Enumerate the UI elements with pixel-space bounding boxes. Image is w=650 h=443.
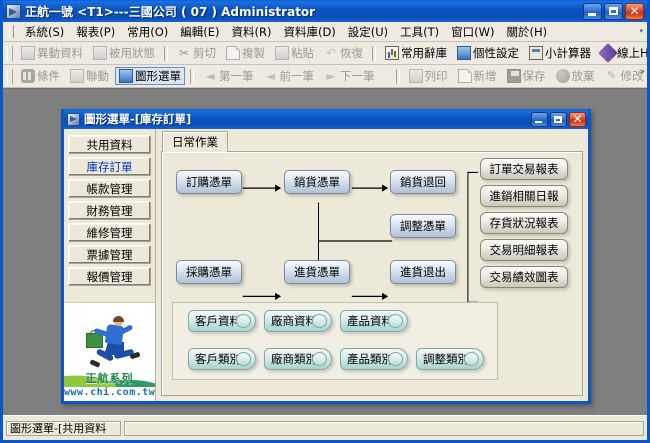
- new-icon: [458, 69, 472, 83]
- master-data-customer[interactable]: 客戶資料: [188, 310, 256, 332]
- link-icon: [70, 69, 84, 83]
- toolbar-button-label: 剪切: [193, 47, 216, 60]
- toolbar-button-graphic-menu[interactable]: 圖形選單: [115, 67, 185, 85]
- toolbar-button-label: 異動資料: [37, 47, 83, 60]
- toolbar-button-label: 下一筆: [340, 70, 375, 83]
- first-record-icon: ◄: [203, 69, 217, 83]
- save-icon: [507, 69, 521, 83]
- chevron-down-icon[interactable]: ▾: [639, 27, 643, 35]
- flow-node-sales-voucher[interactable]: 銷貨憑單: [284, 170, 350, 194]
- toolbar-button-phrase-library[interactable]: 常用辭庫: [381, 44, 451, 62]
- master-data-customer-category[interactable]: 客戶類別: [188, 348, 256, 370]
- menu-item-about[interactable]: 關於(H): [501, 22, 554, 42]
- title-bar: 正航一號 <T1>---三國公司 ( 07 ) Administrator ✕: [3, 0, 647, 22]
- toolbar-button-label: 恢復: [340, 47, 363, 60]
- menu-item-database[interactable]: 資料庫(D): [277, 22, 341, 42]
- status-text: 圖形選單-[共用資料: [6, 421, 121, 436]
- toolbar-button-calculator[interactable]: 小計算器: [525, 44, 595, 62]
- page-title: 正航一號 <T1>---三國公司 ( 07 ) Administrator: [25, 3, 583, 20]
- toolbar-button-label: 小計算器: [545, 47, 591, 60]
- mdi-maximize-button[interactable]: [550, 112, 567, 127]
- toolbar-button-label: 條件: [37, 70, 60, 83]
- flow-node-receipt-voucher[interactable]: 進貨憑單: [284, 260, 350, 284]
- toolbar-button-label: 列印: [425, 70, 448, 83]
- toolbar-separator: [372, 46, 376, 61]
- toolbar-button-label: 個性設定: [473, 47, 519, 60]
- mdi-minimize-button[interactable]: [531, 112, 548, 127]
- toolbar-button-save[interactable]: 保存: [503, 67, 550, 85]
- toolbar-button-usage-state[interactable]: 被用狀態: [89, 44, 159, 62]
- toolbar-button-label: 線上Help: [617, 47, 647, 60]
- mdi-window-title: 圖形選單-[庫存訂單]: [84, 111, 531, 127]
- menu-item-system[interactable]: 系統(S): [19, 22, 70, 42]
- application-window: 正航一號 <T1>---三國公司 ( 07 ) Administrator ✕ …: [0, 0, 650, 443]
- next-record-icon: ►: [324, 69, 338, 83]
- report-button-transaction-detail[interactable]: 交易明細報表: [480, 239, 568, 261]
- sidebar-item-bill-mgmt[interactable]: 票據管理: [68, 245, 151, 264]
- report-button-performance-chart[interactable]: 交易績效圖表: [480, 266, 568, 288]
- toolbar-button-discard[interactable]: 放棄: [552, 67, 599, 85]
- toolbar-button-paste[interactable]: 粘貼: [271, 44, 318, 62]
- status-secondary: [124, 421, 644, 436]
- window-controls: ✕: [583, 3, 645, 20]
- toolbar-secondary: 條件 聯動 圖形選單 ◄ 第一筆 ◄ 前一筆 ► 下一筆 » 列印: [3, 65, 647, 88]
- mdi-workspace: 圖形選單-[庫存訂單] ✕ 共用資料 庫存訂單 帳款管理 財務管理 維修管理 票…: [3, 88, 647, 415]
- toolbar-button-label: 複製: [242, 47, 265, 60]
- app-icon: [6, 4, 21, 19]
- toolbar-separator: [164, 46, 168, 61]
- toolbar-button-first-record[interactable]: ◄ 第一筆: [199, 67, 258, 85]
- edit-icon: ✎: [605, 69, 619, 83]
- toolbar-button-prev-record[interactable]: ◄ 前一筆: [260, 67, 319, 85]
- module-content: 日常作業: [156, 129, 588, 401]
- cut-icon: ✂: [177, 46, 191, 60]
- close-button[interactable]: ✕: [625, 3, 644, 20]
- menu-grip[interactable]: [9, 25, 14, 38]
- flow-node-purchase-return[interactable]: 進貨退出: [390, 260, 456, 284]
- menu-item-settings[interactable]: 設定(U): [342, 22, 394, 42]
- toolbar-button-online-help[interactable]: 線上Help: [597, 44, 647, 62]
- menu-item-common[interactable]: 常用(O): [121, 22, 174, 42]
- toolbar-button-print[interactable]: 列印: [405, 67, 452, 85]
- menu-bar: 系統(S) 報表(P) 常用(O) 編輯(E) 資料(R) 資料庫(D) 設定(…: [3, 22, 647, 42]
- flow-node-sales-return[interactable]: 銷貨退回: [390, 170, 456, 194]
- mdi-app-icon: [67, 113, 80, 126]
- logo-brand-text: 正航系列: [64, 370, 155, 386]
- master-data-vendor[interactable]: 廠商資料: [264, 310, 332, 332]
- menu-item-data[interactable]: 資料(R): [225, 22, 277, 42]
- master-data-adjustment-category[interactable]: 調整類別: [416, 348, 484, 370]
- sidebar-item-finance-mgmt[interactable]: 財務管理: [68, 201, 151, 220]
- tab-daily-operations[interactable]: 日常作業: [162, 131, 228, 152]
- brand-logo: 正航系列 www.chi.com.tw: [64, 302, 155, 401]
- toolbar-button-label: 聯動: [86, 70, 109, 83]
- sidebar-item-common-data[interactable]: 共用資料: [68, 135, 151, 154]
- tab-strip: 日常作業: [156, 129, 588, 151]
- toolbar-button-label: 放棄: [572, 70, 595, 83]
- flow-node-purchase-order[interactable]: 訂購憑單: [176, 170, 242, 194]
- sidebar-item-inventory-order[interactable]: 庫存訂單: [68, 157, 151, 176]
- toolbar-button-personal-settings[interactable]: 個性設定: [453, 44, 523, 62]
- master-data-product-category[interactable]: 產品類別: [340, 348, 408, 370]
- mdi-title-bar: 圖形選單-[庫存訂單] ✕: [64, 109, 588, 129]
- module-sidebar: 共用資料 庫存訂單 帳款管理 財務管理 維修管理 票據管理 報價管理: [64, 129, 156, 401]
- paste-icon: [275, 46, 289, 60]
- flow-node-procurement-voucher[interactable]: 採購憑單: [176, 260, 242, 284]
- status-bar: 圖形選單-[共用資料: [3, 415, 647, 440]
- menu-item-report[interactable]: 報表(P): [70, 22, 121, 42]
- prev-record-icon: ◄: [264, 69, 278, 83]
- toolbar-primary: 異動資料 被用狀態 ✂ 剪切 複製 粘貼 ↶ 恢復 常用辭庫: [3, 42, 647, 65]
- toolbar-button-label: 被用狀態: [109, 47, 155, 60]
- menu-item-tools[interactable]: 工具(T): [394, 22, 445, 42]
- maximize-button[interactable]: [604, 3, 623, 20]
- sidebar-spacer: [68, 289, 151, 302]
- filter-icon: [21, 69, 35, 83]
- print-icon: [409, 69, 423, 83]
- report-button-inventory-status[interactable]: 存貨狀況報表: [480, 212, 568, 234]
- mdi-window-controls: ✕: [531, 112, 586, 127]
- master-data-product[interactable]: 產品資料: [340, 310, 408, 332]
- toolbar-button-label: 前一筆: [280, 70, 315, 83]
- toolbar-button-filter[interactable]: 條件: [17, 67, 64, 85]
- minimize-button[interactable]: [583, 3, 602, 20]
- toolbar-button-link[interactable]: 聯動: [66, 67, 113, 85]
- copy-icon: [226, 46, 240, 60]
- flow-node-adjustment-voucher[interactable]: 調整憑單: [390, 214, 456, 238]
- sidebar-item-account-mgmt[interactable]: 帳款管理: [68, 179, 151, 198]
- calculator-icon: [529, 46, 543, 60]
- toolbar-button-copy[interactable]: 複製: [222, 44, 269, 62]
- graphic-menu-icon: [119, 69, 133, 83]
- graphic-menu-window: 圖形選單-[庫存訂單] ✕ 共用資料 庫存訂單 帳款管理 財務管理 維修管理 票…: [61, 109, 591, 404]
- flow-canvas: 訂購憑單 銷貨憑單 銷貨退回 調整憑單 採購憑單 進貨憑單 進貨退出 訂單交易報…: [162, 152, 582, 395]
- sidebar-item-maintenance-mgmt[interactable]: 維修管理: [68, 223, 151, 242]
- toolbar-button-undo[interactable]: ↶ 恢復: [320, 44, 367, 62]
- toolbar-grip[interactable]: [7, 69, 13, 84]
- toolbar-button-label: 第一筆: [219, 70, 254, 83]
- report-button-order-transaction[interactable]: 訂單交易報表: [480, 158, 568, 180]
- report-button-sales-purchase-daily[interactable]: 進銷相關日報: [480, 185, 568, 207]
- undo-icon: ↶: [324, 46, 338, 60]
- discard-icon: [556, 69, 570, 83]
- toolbar-grip[interactable]: [7, 46, 13, 61]
- logo-url-text: www.chi.com.tw: [64, 387, 155, 398]
- toolbar-button-next-record[interactable]: ► 下一筆: [320, 67, 379, 85]
- toolbar-overflow-icon[interactable]: »: [639, 68, 645, 76]
- toolbar-separator: [190, 69, 194, 84]
- toolbar-separator: [396, 69, 400, 84]
- toolbar-button-label: 圖形選單: [135, 70, 181, 83]
- change-data-icon: [21, 46, 35, 60]
- menu-item-window[interactable]: 窗口(W): [445, 22, 500, 42]
- sidebar-item-quotation-mgmt[interactable]: 報價管理: [68, 267, 151, 286]
- personal-settings-icon: [457, 46, 471, 60]
- usage-state-icon: [93, 46, 107, 60]
- master-data-vendor-category[interactable]: 廠商類別: [264, 348, 332, 370]
- flow-diagram-panel: 訂購憑單 銷貨憑單 銷貨退回 調整憑單 採購憑單 進貨憑單 進貨退出 訂單交易報…: [161, 151, 583, 396]
- menu-item-edit[interactable]: 編輯(E): [174, 22, 225, 42]
- toolbar-button-cut[interactable]: ✂ 剪切: [173, 44, 220, 62]
- mdi-body: 共用資料 庫存訂單 帳款管理 財務管理 維修管理 票據管理 報價管理: [64, 129, 588, 401]
- toolbar-button-new[interactable]: 新增: [454, 67, 501, 85]
- online-help-icon: [598, 43, 618, 63]
- toolbar-button-label: 常用辭庫: [401, 47, 447, 60]
- mdi-close-button[interactable]: ✕: [569, 112, 586, 127]
- toolbar-button-change-data[interactable]: 異動資料: [17, 44, 87, 62]
- phrase-library-icon: [385, 46, 399, 60]
- toolbar-button-label: 粘貼: [291, 47, 314, 60]
- toolbar-button-label: 新增: [474, 70, 497, 83]
- toolbar-button-label: 保存: [523, 70, 546, 83]
